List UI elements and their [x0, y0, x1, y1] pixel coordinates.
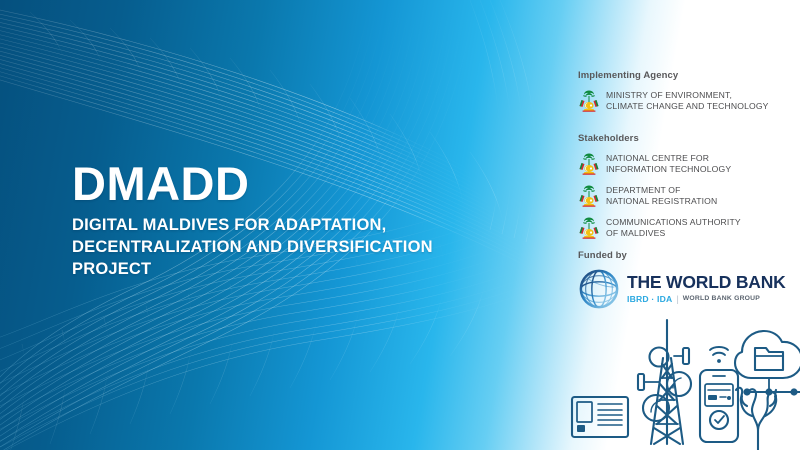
organization-line-1: COMMUNICATIONS AUTHORITY [606, 217, 741, 227]
maldives-coat-of-arms-icon [578, 216, 600, 239]
telecom-tower-icon [638, 320, 691, 444]
world-bank-name: THE WORLD BANK [627, 272, 786, 292]
funded-by-section: Funded by [578, 250, 793, 310]
list-item: MINISTRY OF ENVIRONMENT, CLIMATE CHANGE … [578, 88, 793, 113]
slide-canvas: DMADD DIGITAL MALDIVES FOR ADAPTATION, D… [0, 0, 800, 450]
world-bank-tagline: IBRD · IDA | WORLD BANK GROUP [627, 295, 786, 304]
maldives-coat-of-arms-icon [578, 152, 600, 175]
page-title: DMADD [72, 160, 492, 208]
list-item: NATIONAL CENTRE FOR INFORMATION TECHNOLO… [578, 151, 793, 176]
world-bank-group-text: WORLD BANK GROUP [683, 296, 760, 303]
funded-by-heading: Funded by [578, 250, 793, 261]
organization-name: COMMUNICATIONS AUTHORITY OF MALDIVES [606, 215, 741, 240]
cloud-folder-network-icon [735, 331, 800, 396]
list-item: DEPARTMENT OF NATIONAL REGISTRATION [578, 183, 793, 208]
implementing-agency-heading: Implementing Agency [578, 70, 793, 81]
illustration-group [562, 312, 800, 450]
id-card-icon [572, 397, 628, 437]
organization-line-1: DEPARTMENT OF [606, 185, 681, 195]
organization-line-2: NATIONAL REGISTRATION [606, 196, 717, 206]
organization-line-2: INFORMATION TECHNOLOGY [606, 164, 731, 174]
organization-name: MINISTRY OF ENVIRONMENT, CLIMATE CHANGE … [606, 88, 769, 113]
organization-line-2: CLIMATE CHANGE AND TECHNOLOGY [606, 101, 769, 111]
organization-line-1: NATIONAL CENTRE FOR [606, 153, 709, 163]
title-block: DMADD DIGITAL MALDIVES FOR ADAPTATION, D… [72, 160, 492, 280]
world-bank-logo: THE WORLD BANK IBRD · IDA | WORLD BANK G… [578, 268, 793, 310]
smartphone-wifi-icon [700, 347, 738, 442]
list-item: COMMUNICATIONS AUTHORITY OF MALDIVES [578, 215, 793, 240]
tagline-divider: | [676, 295, 678, 304]
stakeholders-list: NATIONAL CENTRE FOR INFORMATION TECHNOLO… [578, 151, 793, 240]
implementing-agency-list: MINISTRY OF ENVIRONMENT, CLIMATE CHANGE … [578, 88, 793, 113]
stakeholders-heading: Stakeholders [578, 133, 793, 144]
coral-branch-icon [736, 388, 776, 450]
maldives-coat-of-arms-icon [578, 184, 600, 207]
page-subtitle: DIGITAL MALDIVES FOR ADAPTATION, DECENTR… [72, 214, 492, 280]
maldives-coat-of-arms-icon [578, 89, 600, 112]
organization-line-2: OF MALDIVES [606, 228, 665, 238]
organization-name: DEPARTMENT OF NATIONAL REGISTRATION [606, 183, 717, 208]
organization-name: NATIONAL CENTRE FOR INFORMATION TECHNOLO… [606, 151, 731, 176]
info-panel: Implementing Agency [578, 70, 793, 246]
ibrd-ida-text: IBRD · IDA [627, 295, 672, 304]
globe-icon [578, 268, 620, 310]
world-bank-wordmark: THE WORLD BANK IBRD · IDA | WORLD BANK G… [627, 274, 786, 304]
organization-line-1: MINISTRY OF ENVIRONMENT, [606, 90, 732, 100]
section-spacer [578, 120, 793, 133]
